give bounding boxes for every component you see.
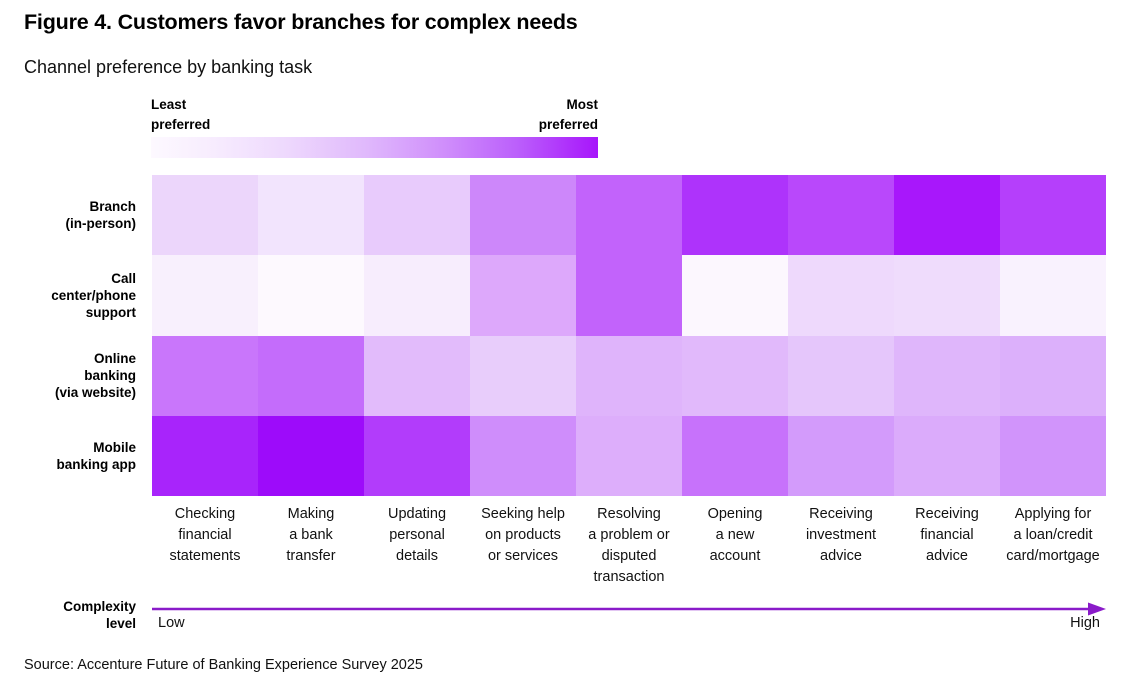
- column-label-line: Updating: [366, 504, 468, 525]
- complexity-axis: Complexity level Low High: [0, 598, 1136, 643]
- heatmap-cell: [470, 175, 576, 255]
- heatmap-cell: [470, 336, 576, 416]
- heatmap-column-label: Checkingfinancialstatements: [152, 504, 258, 588]
- heatmap-cell: [682, 255, 788, 335]
- column-label-line: a new: [684, 525, 786, 546]
- row-label-line: Mobile: [56, 439, 136, 456]
- heatmap-column-label: Updatingpersonaldetails: [364, 504, 470, 588]
- heatmap-cell: [364, 336, 470, 416]
- heatmap-column-labels: CheckingfinancialstatementsMakinga bankt…: [152, 504, 1106, 588]
- column-label-line: on products: [472, 525, 574, 546]
- heatmap-cell: [788, 416, 894, 496]
- heatmap-column-label: Seeking helpon productsor services: [470, 504, 576, 588]
- row-label-line: (via website): [55, 384, 136, 401]
- heatmap-cell: [364, 175, 470, 255]
- heatmap-cell: [364, 255, 470, 335]
- heatmap-cell: [894, 175, 1000, 255]
- column-label-line: financial: [154, 525, 256, 546]
- heatmap-row-label: Branch(in-person): [0, 175, 144, 255]
- column-label-line: Resolving: [578, 504, 680, 525]
- heatmap-cell: [258, 336, 364, 416]
- column-label-line: disputed: [578, 546, 680, 567]
- heatmap-cell: [258, 175, 364, 255]
- column-label-line: Checking: [154, 504, 256, 525]
- column-label-line: card/mortgage: [1002, 546, 1104, 567]
- heatmap-row-label: Mobilebanking app: [0, 416, 144, 496]
- column-label-line: Receiving: [790, 504, 892, 525]
- complexity-axis-label: Complexity level: [0, 598, 144, 632]
- row-label-line: Branch: [66, 198, 137, 215]
- heatmap-row-label: Callcenter/phonesupport: [0, 255, 144, 335]
- heatmap-cell: [682, 336, 788, 416]
- heatmap-cell: [1000, 416, 1106, 496]
- column-label-line: personal: [366, 525, 468, 546]
- row-label-line: center/phone: [51, 287, 136, 304]
- complexity-arrow-icon: [152, 602, 1106, 616]
- heatmap-cell: [152, 416, 258, 496]
- heatmap-cell: [258, 416, 364, 496]
- column-label-line: statements: [154, 546, 256, 567]
- heatmap-cell: [894, 336, 1000, 416]
- page-subtitle: Channel preference by banking task: [24, 57, 312, 78]
- complexity-line1: Complexity: [0, 598, 136, 615]
- heatmap-cell: [576, 416, 682, 496]
- heatmap-cell: [894, 416, 1000, 496]
- column-label-line: Applying for: [1002, 504, 1104, 525]
- heatmap-column-label: Applying fora loan/creditcard/mortgage: [1000, 504, 1106, 588]
- page-title: Figure 4. Customers favor branches for c…: [24, 10, 578, 35]
- legend-most-preferred-label: Most preferred: [539, 95, 598, 135]
- heatmap-cell: [682, 416, 788, 496]
- heatmap-column-label: Makinga banktransfer: [258, 504, 364, 588]
- heatmap-cell: [1000, 255, 1106, 335]
- heatmap-cell: [258, 255, 364, 335]
- heatmap-cell: [788, 336, 894, 416]
- legend-most-line2: preferred: [539, 115, 598, 135]
- heatmap-row-label: Onlinebanking(via website): [0, 336, 144, 416]
- complexity-high-label: High: [1000, 615, 1100, 631]
- legend-most-line1: Most: [539, 95, 598, 115]
- row-label-line: banking: [55, 367, 136, 384]
- column-label-line: advice: [896, 546, 998, 567]
- row-label-line: Online: [55, 350, 136, 367]
- row-label-line: Call: [51, 270, 136, 287]
- heatmap-column-label: Openinga newaccount: [682, 504, 788, 588]
- heatmap-cell: [576, 336, 682, 416]
- complexity-low-label: Low: [158, 615, 185, 631]
- heatmap-column-label: Receivinginvestmentadvice: [788, 504, 894, 588]
- heatmap-cell: [682, 175, 788, 255]
- heatmap-cell: [364, 416, 470, 496]
- source-note: Source: Accenture Future of Banking Expe…: [24, 657, 423, 673]
- legend-gradient-bar: [151, 137, 598, 158]
- heatmap-row-labels: Branch(in-person)Callcenter/phonesupport…: [0, 175, 144, 496]
- heatmap-cell: [788, 255, 894, 335]
- column-label-line: account: [684, 546, 786, 567]
- legend-least-line1: Least: [151, 95, 210, 115]
- column-label-line: financial: [896, 525, 998, 546]
- heatmap-cell: [152, 255, 258, 335]
- heatmap-grid: [152, 175, 1106, 496]
- heatmap-column-label: Resolvinga problem ordisputedtransaction: [576, 504, 682, 588]
- heatmap-column-label: Receivingfinancialadvice: [894, 504, 1000, 588]
- heatmap-cell: [470, 416, 576, 496]
- column-label-line: advice: [790, 546, 892, 567]
- color-legend: Least preferred Most preferred: [151, 95, 598, 158]
- heatmap-cell: [576, 175, 682, 255]
- heatmap-cell: [1000, 336, 1106, 416]
- heatmap-cell: [1000, 175, 1106, 255]
- legend-least-line2: preferred: [151, 115, 210, 135]
- heatmap-cell: [152, 175, 258, 255]
- column-label-line: investment: [790, 525, 892, 546]
- column-label-line: Seeking help: [472, 504, 574, 525]
- column-label-line: Making: [260, 504, 362, 525]
- column-label-line: a loan/credit: [1002, 525, 1104, 546]
- complexity-line2: level: [0, 615, 136, 632]
- heatmap-cell: [152, 336, 258, 416]
- column-label-line: a bank: [260, 525, 362, 546]
- heatmap-cell: [470, 255, 576, 335]
- column-label-line: a problem or: [578, 525, 680, 546]
- heatmap-cell: [576, 255, 682, 335]
- column-label-line: or services: [472, 546, 574, 567]
- column-label-line: transaction: [578, 567, 680, 588]
- column-label-line: Receiving: [896, 504, 998, 525]
- heatmap-cell: [788, 175, 894, 255]
- row-label-line: banking app: [56, 456, 136, 473]
- row-label-line: (in-person): [66, 215, 137, 232]
- legend-labels: Least preferred Most preferred: [151, 95, 598, 137]
- column-label-line: details: [366, 546, 468, 567]
- legend-least-preferred-label: Least preferred: [151, 95, 210, 135]
- heatmap-cell: [894, 255, 1000, 335]
- column-label-line: transfer: [260, 546, 362, 567]
- row-label-line: support: [51, 304, 136, 321]
- column-label-line: Opening: [684, 504, 786, 525]
